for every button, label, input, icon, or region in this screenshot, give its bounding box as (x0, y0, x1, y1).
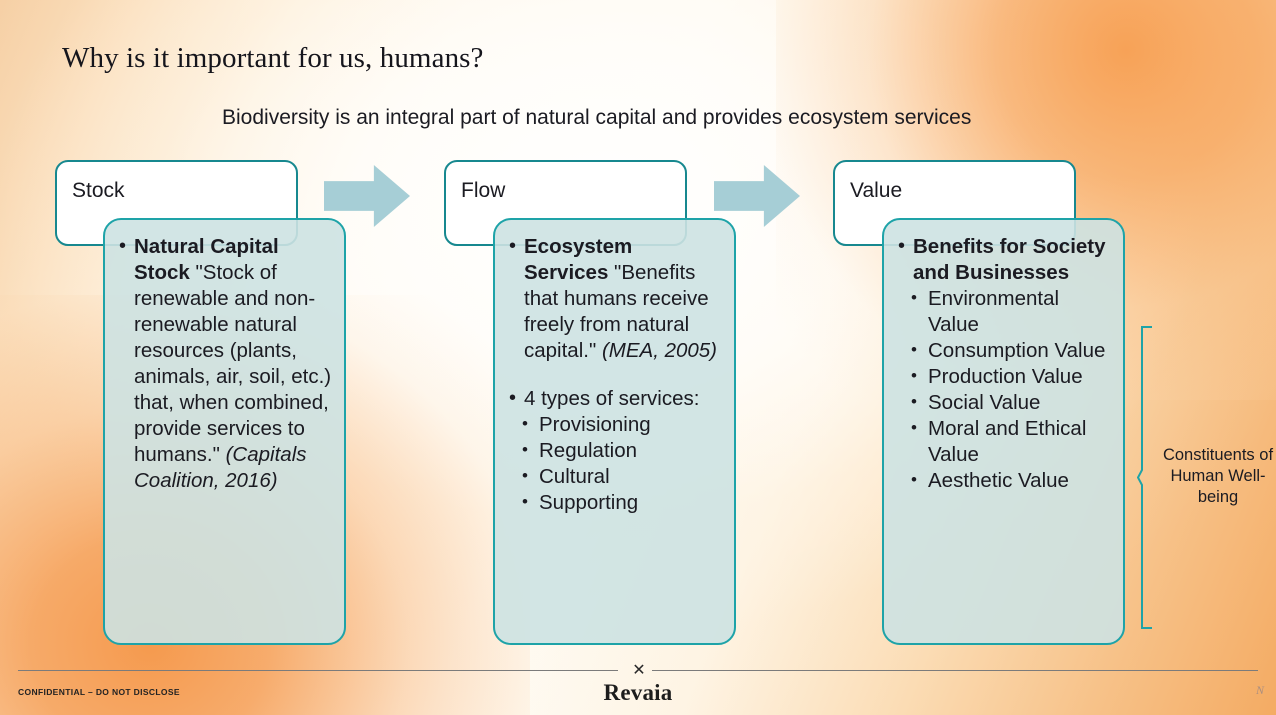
bullet-text: Consumption Value (928, 339, 1105, 362)
header-label-flow: Flow (461, 179, 505, 203)
bullet-text: "Stock of renewable and non-renewable na… (134, 261, 331, 466)
brand-logo: Revaia (0, 680, 1276, 706)
list-item: Social Value (911, 390, 1111, 416)
bullet-text: Supporting (539, 491, 638, 514)
footer-rule-left (18, 670, 618, 671)
list-item: Moral and Ethical Value (911, 416, 1111, 468)
list-item: Aesthetic Value (911, 468, 1111, 494)
list-item: 4 types of services: (509, 386, 722, 412)
list-item: Production Value (911, 364, 1111, 390)
bullet-text: Moral and Ethical Value (928, 417, 1086, 466)
bracket-label: Constituents of Human Well-being (1160, 445, 1276, 508)
arrow-right-icon-2 (714, 165, 800, 227)
x-mark-icon: ✕ (628, 660, 650, 682)
list-item: Supporting (522, 490, 722, 516)
bullet-text: Cultural (539, 465, 610, 488)
list-item: Benefits for Society and Businesses (898, 234, 1111, 286)
content-card-value: Benefits for Society and Businesses Envi… (882, 218, 1125, 645)
list-item: Ecosystem Services "Benefits that humans… (509, 234, 722, 364)
list-item: Consumption Value (911, 338, 1111, 364)
bullet-text: 4 types of services: (524, 387, 699, 410)
list-item: Environmental Value (911, 286, 1111, 338)
bullet-text: Aesthetic Value (928, 469, 1069, 492)
bullet-text: Provisioning (539, 413, 651, 436)
bullet-text: Regulation (539, 439, 637, 462)
list-item: Regulation (522, 438, 722, 464)
bullet-lead: Benefits for Society and Businesses (913, 235, 1106, 284)
bullet-list-flow: Ecosystem Services "Benefits that humans… (509, 234, 722, 516)
diagram-stage: Stock Natural Capital Stock "Stock of re… (0, 0, 1276, 715)
slide-canvas: Why is it important for us, humans? Biod… (0, 0, 1276, 715)
curly-bracket-icon (1137, 325, 1153, 630)
header-label-value: Value (850, 179, 902, 203)
content-card-flow: Ecosystem Services "Benefits that humans… (493, 218, 736, 645)
bullet-list-stock: Natural Capital Stock "Stock of renewabl… (119, 234, 332, 494)
content-card-stock: Natural Capital Stock "Stock of renewabl… (103, 218, 346, 645)
list-item: Natural Capital Stock "Stock of renewabl… (119, 234, 332, 494)
header-label-stock: Stock (72, 179, 125, 203)
footer-rule-right (652, 670, 1258, 671)
bullet-text: Production Value (928, 365, 1083, 388)
bullet-list-value: Benefits for Society and Businesses Envi… (898, 234, 1111, 494)
corner-watermark: N (1256, 684, 1264, 696)
list-item: Cultural (522, 464, 722, 490)
bullet-text: Environmental Value (928, 287, 1059, 336)
list-item: Provisioning (522, 412, 722, 438)
list-spacer (509, 364, 722, 386)
bullet-text: Social Value (928, 391, 1040, 414)
arrow-right-icon-1 (324, 165, 410, 227)
bullet-citation: (MEA, 2005) (602, 339, 717, 362)
